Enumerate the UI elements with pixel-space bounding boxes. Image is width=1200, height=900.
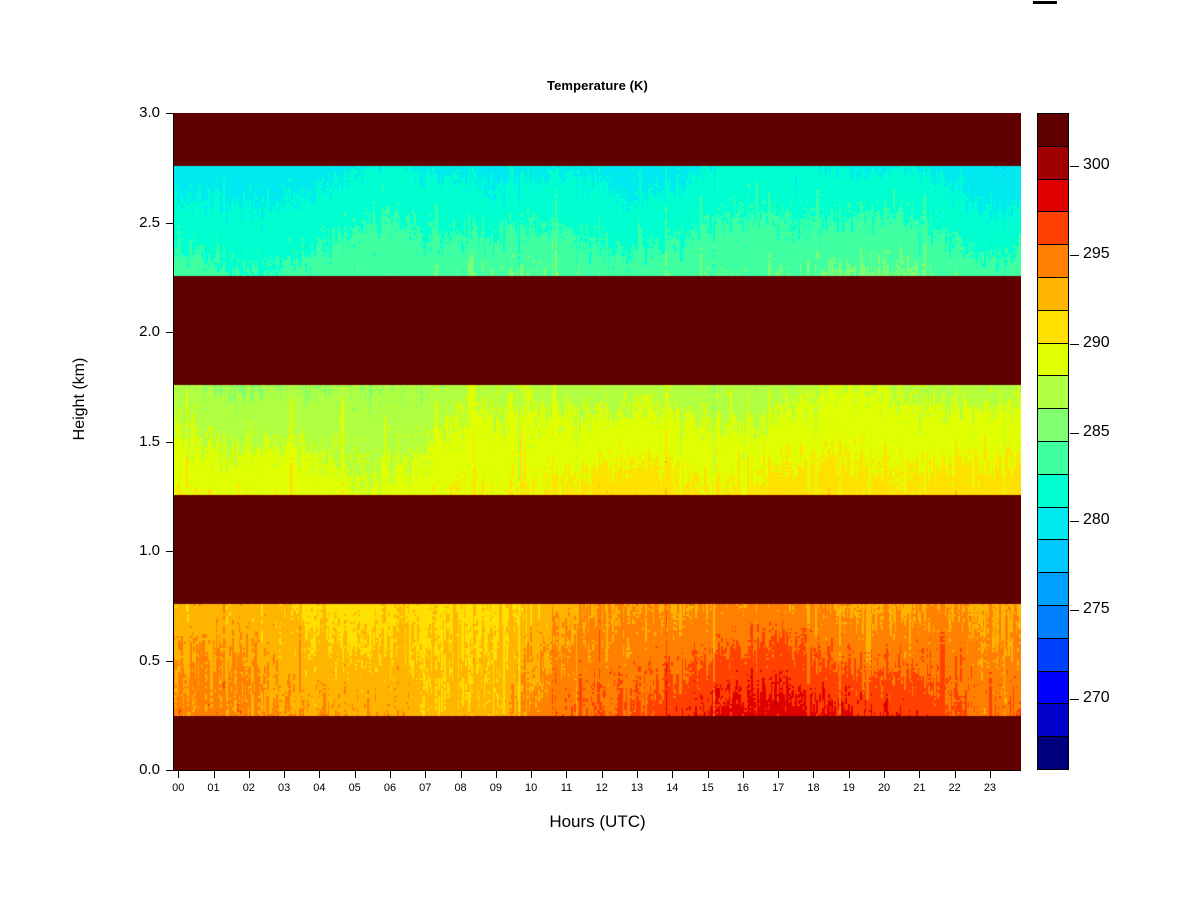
x-tick-label-16: 16: [723, 782, 763, 794]
colorbar-block-18: [1038, 147, 1068, 180]
x-tick-07: [425, 771, 426, 778]
colorbar-block-9: [1038, 442, 1068, 475]
x-tick-23: [990, 771, 991, 778]
x-tick-label-11: 11: [546, 782, 586, 794]
x-tick-label-00: 00: [158, 782, 198, 794]
x-tick-05: [355, 771, 356, 778]
y-tick-label-0.5: 0.5: [106, 652, 160, 669]
y-tick-label-0.0: 0.0: [106, 761, 160, 778]
colorbar: [1037, 113, 1069, 770]
colorbar-tick-label-285: 285: [1083, 423, 1110, 441]
colorbar-block-8: [1038, 475, 1068, 508]
x-tick-label-19: 19: [829, 782, 869, 794]
x-tick-22: [955, 771, 956, 778]
plot-title: Temperature (K): [174, 78, 1021, 93]
x-tick-label-08: 08: [441, 782, 481, 794]
y-tick-0.5: [166, 661, 173, 662]
x-tick-03: [284, 771, 285, 778]
y-tick-label-1.0: 1.0: [106, 542, 160, 559]
x-tick-label-14: 14: [652, 782, 692, 794]
x-tick-label-17: 17: [758, 782, 798, 794]
x-axis-line: [174, 770, 1021, 771]
colorbar-tick-300: [1070, 166, 1079, 167]
y-tick-3.0: [166, 113, 173, 114]
x-tick-02: [249, 771, 250, 778]
x-axis-title: Hours (UTC): [174, 812, 1021, 832]
x-tick-label-18: 18: [793, 782, 833, 794]
colorbar-block-2: [1038, 672, 1068, 705]
x-tick-label-07: 07: [405, 782, 445, 794]
x-tick-00: [178, 771, 179, 778]
colorbar-block-15: [1038, 245, 1068, 278]
x-tick-04: [319, 771, 320, 778]
x-tick-label-12: 12: [582, 782, 622, 794]
colorbar-tick-label-295: 295: [1083, 245, 1110, 263]
colorbar-tick-270: [1070, 699, 1079, 700]
colorbar-block-11: [1038, 376, 1068, 409]
colorbar-block-7: [1038, 508, 1068, 541]
x-tick-19: [849, 771, 850, 778]
colorbar-block-17: [1038, 180, 1068, 213]
colorbar-block-10: [1038, 409, 1068, 442]
x-tick-label-20: 20: [864, 782, 904, 794]
x-tick-label-15: 15: [688, 782, 728, 794]
x-tick-label-06: 06: [370, 782, 410, 794]
x-tick-08: [461, 771, 462, 778]
x-tick-09: [496, 771, 497, 778]
y-tick-label-2.5: 2.5: [106, 214, 160, 231]
figure-canvas: Temperature (K) 000102030405060708091011…: [0, 0, 1200, 900]
x-tick-label-10: 10: [511, 782, 551, 794]
colorbar-tick-label-290: 290: [1083, 334, 1110, 352]
y-tick-0.0: [166, 770, 173, 771]
colorbar-tick-label-275: 275: [1083, 600, 1110, 618]
x-tick-label-02: 02: [229, 782, 269, 794]
x-tick-17: [778, 771, 779, 778]
colorbar-block-6: [1038, 540, 1068, 573]
x-tick-11: [566, 771, 567, 778]
colorbar-block-0: [1038, 737, 1068, 769]
colorbar-tick-280: [1070, 521, 1079, 522]
x-tick-16: [743, 771, 744, 778]
colorbar-tick-290: [1070, 344, 1079, 345]
x-tick-06: [390, 771, 391, 778]
colorbar-block-12: [1038, 344, 1068, 377]
x-tick-13: [637, 771, 638, 778]
x-tick-label-23: 23: [970, 782, 1010, 794]
y-tick-2.0: [166, 332, 173, 333]
x-tick-12: [602, 771, 603, 778]
temperature-heatmap: [174, 113, 1021, 770]
colorbar-tick-275: [1070, 610, 1079, 611]
x-tick-label-09: 09: [476, 782, 516, 794]
temperature-field-canvas: [174, 113, 1021, 770]
colorbar-tick-label-280: 280: [1083, 511, 1110, 529]
y-axis-title: Height (km): [71, 339, 89, 459]
y-tick-1.0: [166, 551, 173, 552]
y-tick-label-1.5: 1.5: [106, 433, 160, 450]
colorbar-block-3: [1038, 639, 1068, 672]
colorbar-block-1: [1038, 704, 1068, 737]
x-tick-label-01: 01: [194, 782, 234, 794]
x-tick-label-04: 04: [299, 782, 339, 794]
colorbar-block-19: [1038, 114, 1068, 147]
y-tick-1.5: [166, 442, 173, 443]
x-tick-label-03: 03: [264, 782, 304, 794]
x-tick-21: [919, 771, 920, 778]
colorbar-block-13: [1038, 311, 1068, 344]
x-tick-01: [214, 771, 215, 778]
y-tick-label-2.0: 2.0: [106, 323, 160, 340]
y-tick-label-3.0: 3.0: [106, 104, 160, 121]
colorbar-block-14: [1038, 278, 1068, 311]
x-tick-20: [884, 771, 885, 778]
x-tick-label-21: 21: [899, 782, 939, 794]
y-axis-line: [173, 113, 174, 771]
y-tick-2.5: [166, 223, 173, 224]
colorbar-block-5: [1038, 573, 1068, 606]
x-tick-15: [708, 771, 709, 778]
x-tick-18: [813, 771, 814, 778]
colorbar-tick-label-300: 300: [1083, 156, 1110, 174]
x-tick-label-13: 13: [617, 782, 657, 794]
x-tick-14: [672, 771, 673, 778]
colorbar-tick-285: [1070, 433, 1079, 434]
x-tick-label-05: 05: [335, 782, 375, 794]
colorbar-tick-295: [1070, 255, 1079, 256]
colorbar-tick-label-270: 270: [1083, 689, 1110, 707]
colorbar-block-16: [1038, 212, 1068, 245]
x-tick-label-22: 22: [935, 782, 975, 794]
x-tick-10: [531, 771, 532, 778]
top-edge-mark: [1033, 1, 1057, 4]
colorbar-block-4: [1038, 606, 1068, 639]
